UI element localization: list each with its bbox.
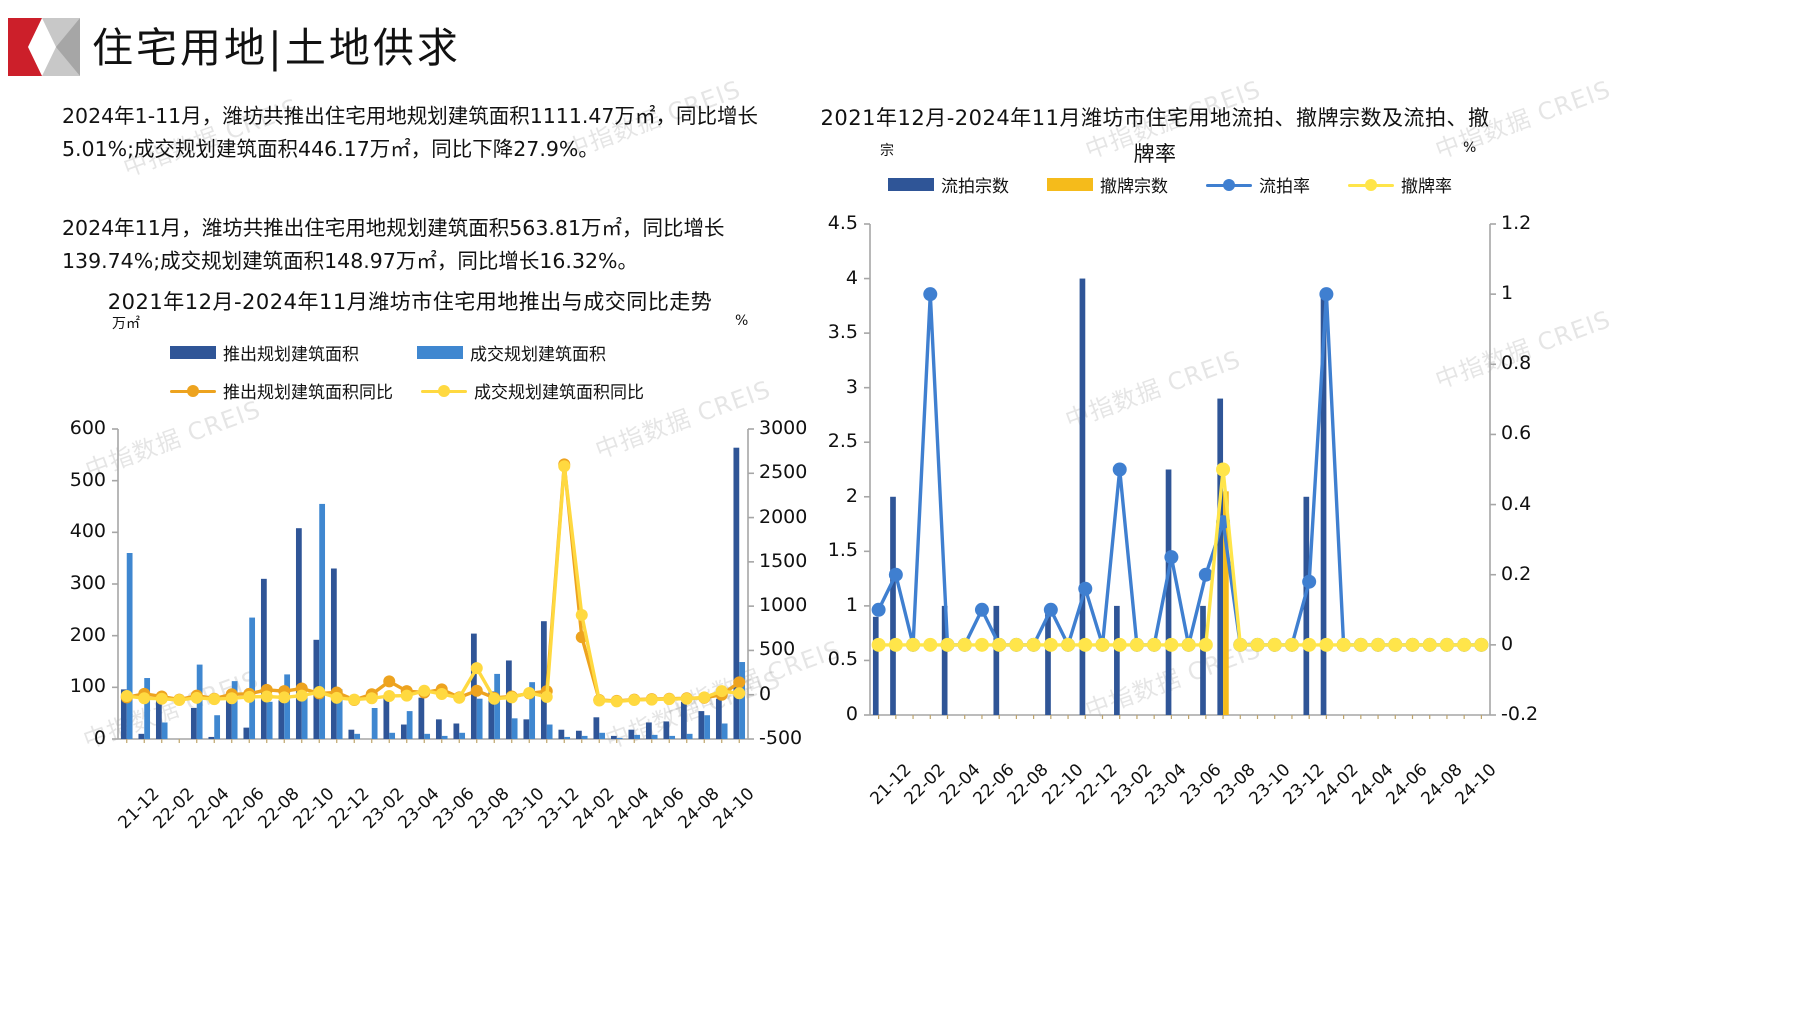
y-axis-tick: 500 bbox=[70, 469, 106, 491]
left-chart-y-unit: 万㎡ bbox=[112, 313, 140, 333]
y-axis-tick: 600 bbox=[70, 417, 106, 439]
y-axis-tick: 4.5 bbox=[828, 212, 858, 234]
left-chart-plot bbox=[60, 415, 800, 785]
left-chart-legend-row-2: 推出规划建筑面积同比 成交规划建筑面积同比 bbox=[170, 378, 644, 403]
summary-paragraph-2: 2024年11月，潍坊共推出住宅用地规划建筑面积563.81万㎡，同比增长139… bbox=[62, 212, 778, 278]
y2-axis-tick: 3000 bbox=[759, 417, 807, 439]
right-chart-title: 2021年12月-2024年11月潍坊市住宅用地流拍、撤牌宗数及流拍、撤牌率 bbox=[810, 100, 1500, 172]
legend-line-icon bbox=[1206, 178, 1252, 192]
y2-axis-tick: 0.2 bbox=[1501, 563, 1531, 585]
legend-item-chengjiao-bar[interactable]: 成交规划建筑面积 bbox=[417, 340, 606, 365]
y-axis-tick: 400 bbox=[70, 520, 106, 542]
y-axis-tick: 300 bbox=[70, 572, 106, 594]
y2-axis-tick: 0.8 bbox=[1501, 352, 1531, 374]
y2-axis-tick: -0.2 bbox=[1501, 703, 1538, 725]
y-axis-tick: 3 bbox=[846, 376, 858, 398]
legend-label: 流拍宗数 bbox=[941, 172, 1009, 197]
page-title: 住宅用地|土地供求 bbox=[92, 14, 461, 74]
y2-axis-tick: 500 bbox=[759, 638, 795, 660]
legend-swatch-icon bbox=[888, 178, 934, 191]
y2-axis-tick: 0 bbox=[1501, 633, 1513, 655]
y2-axis-tick: 1.2 bbox=[1501, 212, 1531, 234]
legend-line-icon bbox=[1348, 178, 1394, 192]
legend-item-chepai-rate[interactable]: 撤牌率 bbox=[1348, 172, 1452, 197]
y-axis-tick: 4 bbox=[846, 267, 858, 289]
y2-axis-tick: 2500 bbox=[759, 461, 807, 483]
legend-label: 成交规划建筑面积同比 bbox=[474, 378, 644, 403]
legend-line-icon bbox=[421, 384, 467, 398]
y-axis-tick: 0 bbox=[846, 703, 858, 725]
left-chart-title: 2021年12月-2024年11月潍坊市住宅用地推出与成交同比走势 bbox=[60, 286, 760, 316]
right-chart-y-unit: 宗 bbox=[880, 140, 894, 160]
y2-axis-tick: 0.4 bbox=[1501, 493, 1531, 515]
y2-axis-tick: 1000 bbox=[759, 594, 807, 616]
y2-axis-tick: 1 bbox=[1501, 282, 1513, 304]
y-axis-tick: 0.5 bbox=[828, 648, 858, 670]
y2-axis-tick: 0.6 bbox=[1501, 422, 1531, 444]
legend-item-liupai-rate[interactable]: 流拍率 bbox=[1206, 172, 1310, 197]
y-axis-tick: 0 bbox=[94, 727, 106, 749]
legend-swatch-icon bbox=[1047, 178, 1093, 191]
y-axis-tick: 2.5 bbox=[828, 430, 858, 452]
left-chart-y2-unit: % bbox=[735, 313, 748, 329]
legend-swatch-icon bbox=[417, 346, 463, 359]
y-axis-tick: 2 bbox=[846, 485, 858, 507]
right-chart-y2-unit: % bbox=[1463, 140, 1476, 156]
y-axis-tick: 3.5 bbox=[828, 321, 858, 343]
y-axis-tick: 1 bbox=[846, 594, 858, 616]
y2-axis-tick: 1500 bbox=[759, 550, 807, 572]
page-header: 住宅用地|土地供求 bbox=[0, 0, 1797, 92]
legend-item-chengjiao-line[interactable]: 成交规划建筑面积同比 bbox=[421, 378, 644, 403]
left-chart-legend-row-1: 推出规划建筑面积 成交规划建筑面积 bbox=[170, 340, 606, 365]
y2-axis-tick: 2000 bbox=[759, 506, 807, 528]
legend-item-tuichu-bar[interactable]: 推出规划建筑面积 bbox=[170, 340, 359, 365]
legend-label: 流拍率 bbox=[1259, 172, 1310, 197]
legend-label: 推出规划建筑面积同比 bbox=[223, 378, 393, 403]
legend-line-icon bbox=[170, 384, 216, 398]
legend-item-liupai-count[interactable]: 流拍宗数 bbox=[888, 172, 1009, 197]
legend-label: 推出规划建筑面积 bbox=[223, 340, 359, 365]
legend-label: 成交规划建筑面积 bbox=[470, 340, 606, 365]
legend-item-tuichu-line[interactable]: 推出规划建筑面积同比 bbox=[170, 378, 393, 403]
legend-swatch-icon bbox=[170, 346, 216, 359]
y2-axis-tick: 0 bbox=[759, 683, 771, 705]
y-axis-tick: 1.5 bbox=[828, 539, 858, 561]
legend-label: 撤牌宗数 bbox=[1100, 172, 1168, 197]
summary-paragraph-1: 2024年1-11月，潍坊共推出住宅用地规划建筑面积1111.47万㎡，同比增长… bbox=[62, 100, 778, 166]
legend-item-chepai-count[interactable]: 撤牌宗数 bbox=[1047, 172, 1168, 197]
y-axis-tick: 100 bbox=[70, 675, 106, 697]
creis-logo bbox=[8, 18, 80, 76]
y2-axis-tick: -500 bbox=[759, 727, 802, 749]
right-chart-legend: 流拍宗数 撤牌宗数 流拍率 撤牌率 bbox=[888, 172, 1452, 197]
legend-label: 撤牌率 bbox=[1401, 172, 1452, 197]
right-chart-plot bbox=[830, 210, 1530, 785]
y-axis-tick: 200 bbox=[70, 624, 106, 646]
